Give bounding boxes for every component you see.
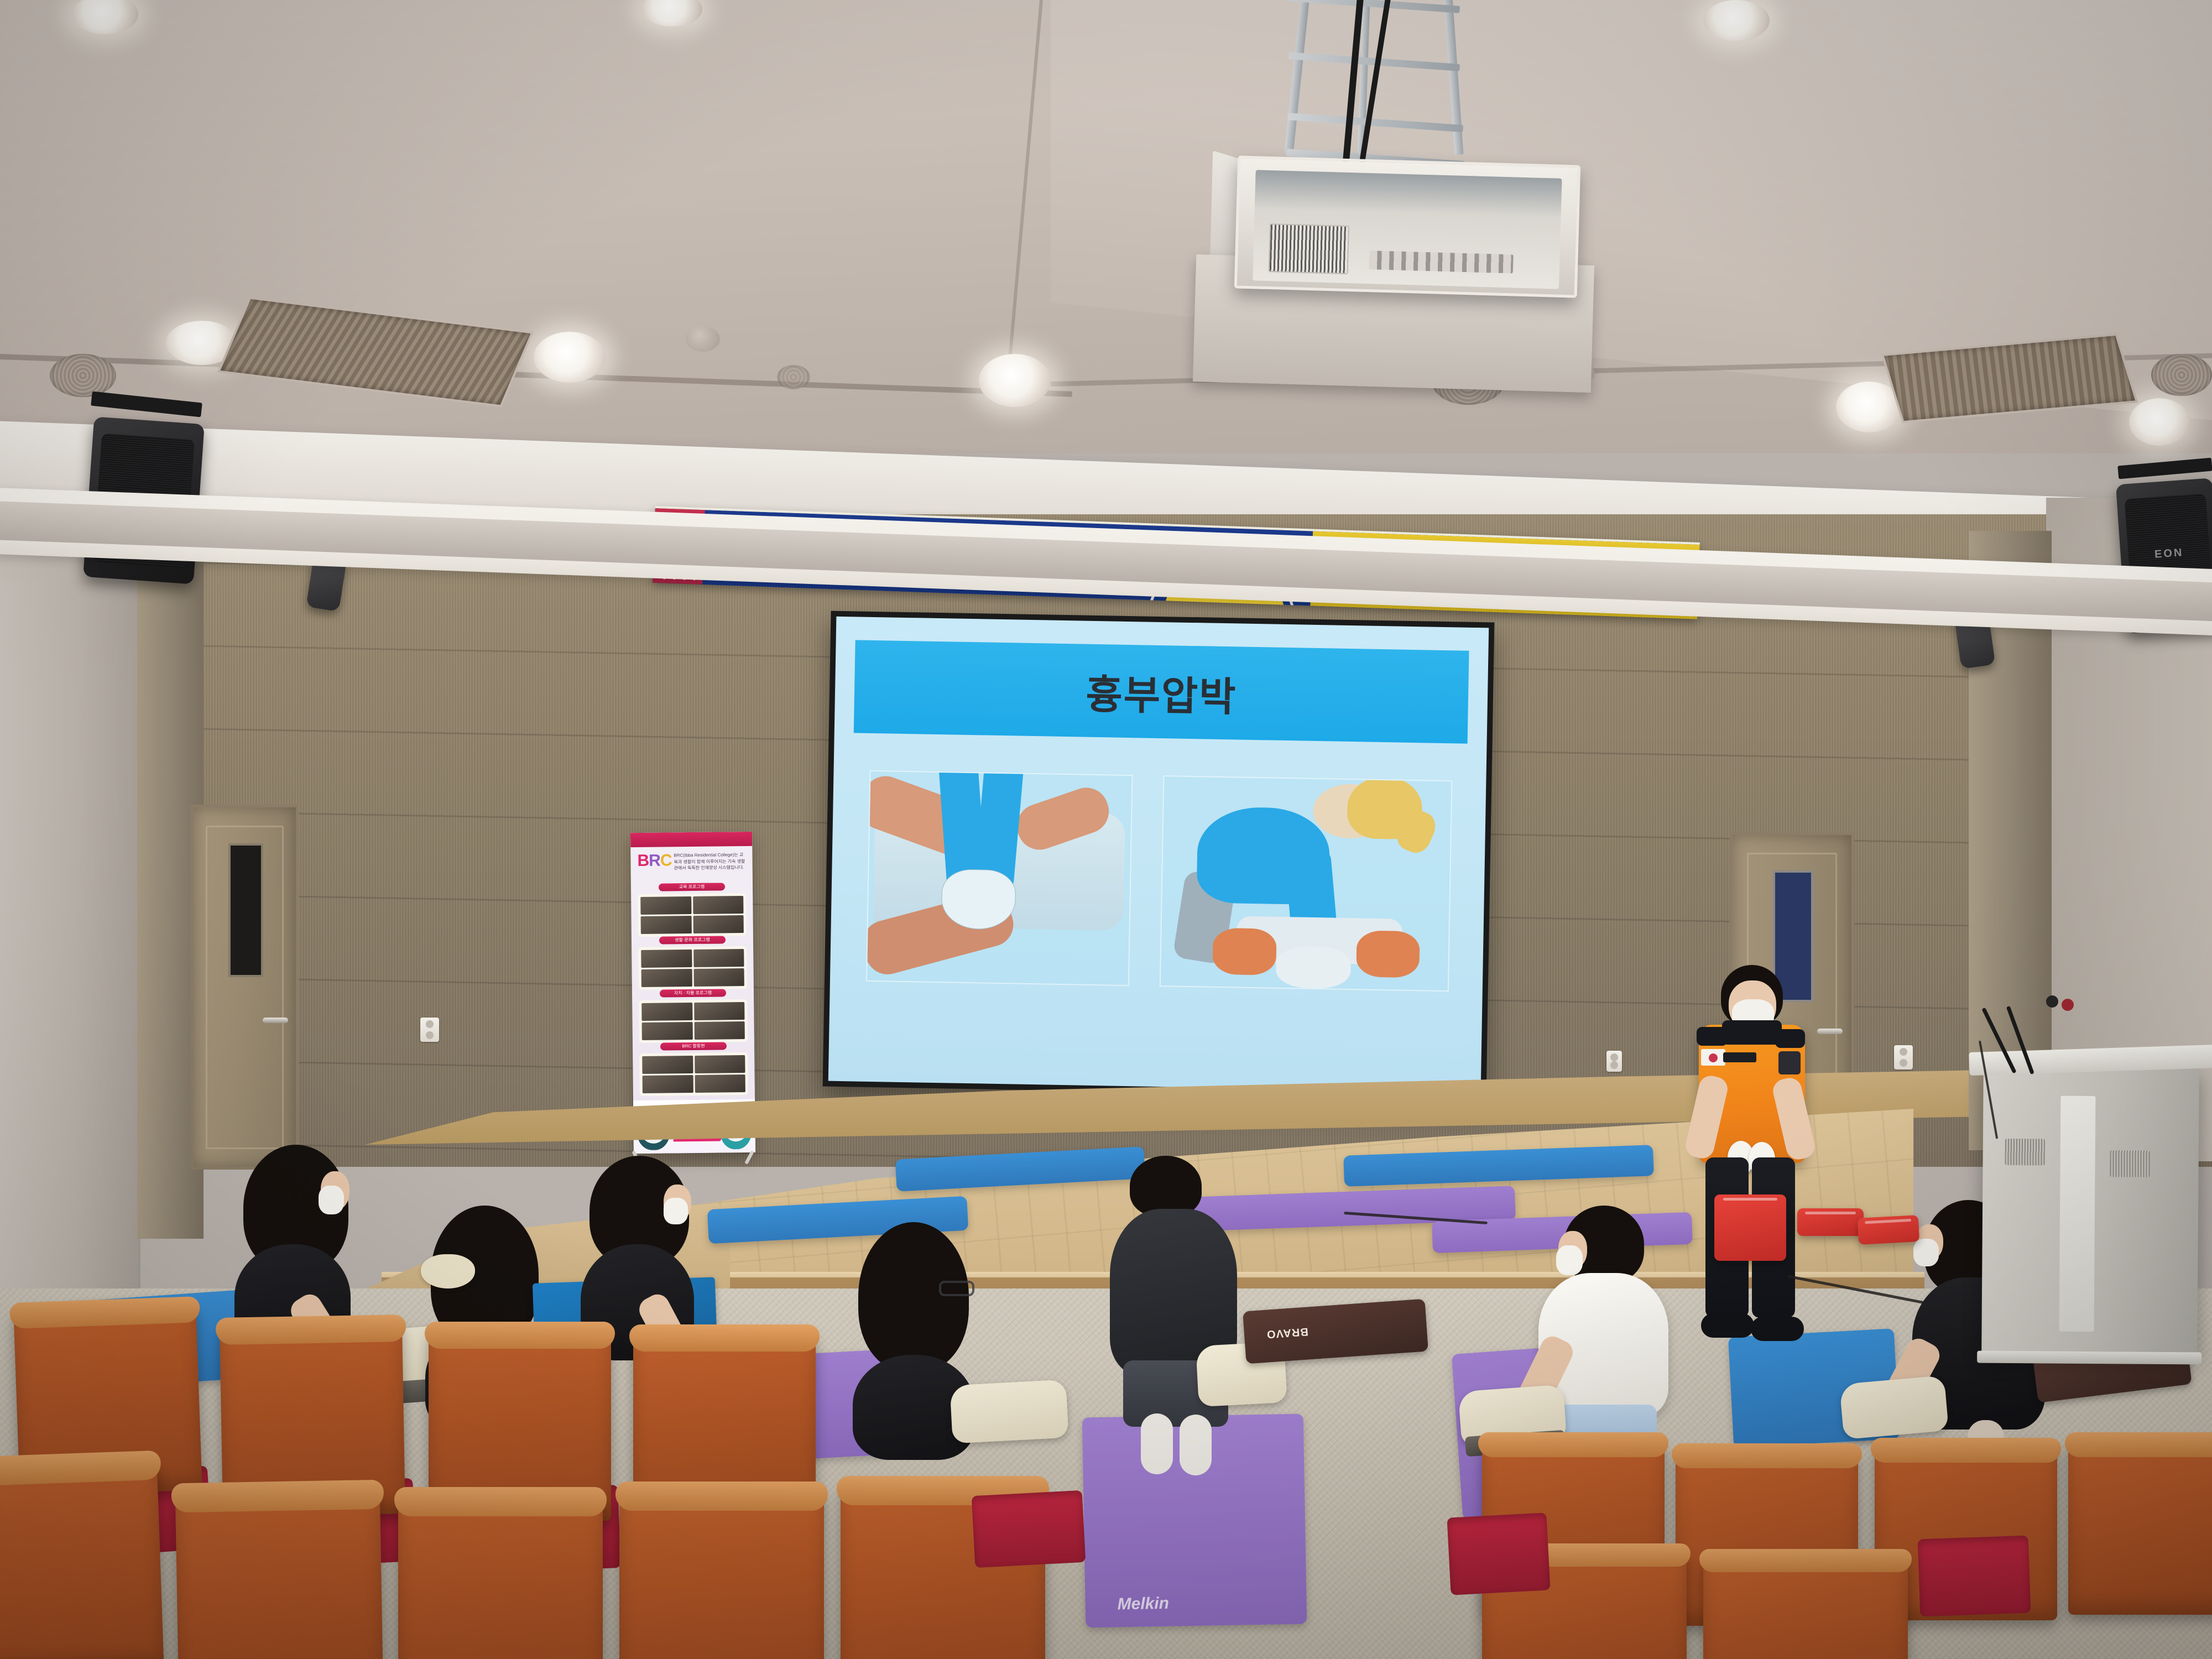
rollup-section: 생활·문화 프로그램	[638, 936, 747, 990]
uniform-shoulder-right	[1775, 1029, 1805, 1048]
seat-cushion	[1447, 1512, 1550, 1595]
seat-top-trim	[1871, 1438, 2060, 1463]
auditorium-seat[interactable]	[619, 1488, 824, 1659]
uniform-collar	[1722, 1020, 1782, 1045]
participant-5	[1098, 1156, 1258, 1465]
rollup-section-label: 생활·문화 프로그램	[659, 936, 726, 944]
left-pillar	[0, 581, 140, 1383]
door-handle[interactable]	[263, 1018, 288, 1023]
carry-bag-brand-label: BRAVO	[1266, 1324, 1308, 1340]
instructor-shoe	[1701, 1313, 1754, 1338]
downlight-icon	[979, 354, 1051, 407]
rollup-section: BRC 활동현	[639, 1042, 748, 1096]
seat-top-trim	[394, 1487, 607, 1516]
seat-backrest	[0, 1457, 164, 1659]
air-diffuser-icon	[777, 365, 810, 389]
rollup-photo	[641, 916, 692, 934]
rollup-photo-grid	[639, 1052, 748, 1096]
projection-screen: 흉부압박	[823, 611, 1495, 1098]
downlight-icon	[534, 332, 606, 383]
rollup-section-label: BRC 활동현	[660, 1042, 727, 1050]
air-diffuser-icon	[2151, 354, 2212, 396]
rollup-section-label: 교육 프로그램	[659, 883, 725, 891]
rollup-photo	[642, 1022, 693, 1040]
seat-backrest	[619, 1488, 824, 1659]
seat-top-trim	[2065, 1432, 2212, 1457]
rollup-logo: BRC	[637, 851, 671, 870]
lectern-base	[1977, 1351, 2201, 1365]
seat-top-trim	[615, 1481, 828, 1511]
wall-outlet[interactable]	[1606, 1051, 1622, 1072]
door-vision-panel	[228, 843, 264, 977]
rollup-photo-grid	[639, 999, 748, 1043]
participant-hair	[858, 1222, 969, 1371]
rollup-section-label: 자치 · 자율 프로그램	[660, 989, 726, 997]
projector-port-panel	[1369, 251, 1514, 273]
rollup-logo-r: R	[649, 852, 660, 870]
rollup-photo	[694, 1002, 745, 1020]
face-mask-icon	[1913, 1239, 1939, 1266]
rollup-photo	[643, 1075, 693, 1093]
seat-backrest	[2068, 1438, 2212, 1615]
emergency-bag	[1797, 1208, 1864, 1236]
rollup-logo-b: B	[637, 852, 649, 870]
door-left[interactable]	[191, 805, 299, 1170]
instructor-shoe	[1751, 1317, 1804, 1341]
rollup-photo	[694, 1021, 745, 1040]
lectern	[1981, 1067, 2199, 1356]
rollup-photo-grid	[638, 946, 747, 990]
cpr-manikin	[1839, 1375, 1949, 1439]
korea-flag-patch-circle	[1709, 1053, 1718, 1062]
hair-bow	[421, 1254, 475, 1288]
rollup-photo	[693, 968, 744, 987]
rollup-photo	[695, 1074, 745, 1093]
projector-vent-grille	[1269, 223, 1349, 274]
rollup-header-bar	[630, 832, 752, 847]
auditorium-seat[interactable]	[398, 1493, 603, 1659]
auditorium-seat[interactable]	[2068, 1438, 2212, 1615]
seat-top-trim	[216, 1314, 406, 1345]
rollup-photo	[695, 1055, 745, 1073]
projector-body	[1253, 170, 1562, 289]
rollup-photo	[641, 950, 692, 968]
rollup-photo	[693, 915, 744, 933]
instructor	[1687, 965, 1814, 1347]
downlight-icon	[1703, 0, 1770, 41]
air-diffuser-icon	[50, 354, 116, 397]
face-mask-icon	[664, 1198, 688, 1224]
slide-illustration-kneeling-posture	[1160, 775, 1453, 992]
rollup-logo-c: C	[660, 851, 672, 869]
seat-top-trim	[629, 1324, 819, 1352]
rollup-photo	[641, 969, 692, 987]
rollup-photo	[693, 949, 744, 967]
face-mask-icon	[1556, 1245, 1583, 1275]
microphone-head[interactable]	[2062, 999, 2074, 1011]
uniform-shoulder-left	[1697, 1027, 1728, 1046]
wall-outlet[interactable]	[420, 1018, 439, 1042]
lectern-center-stripe	[2059, 1096, 2095, 1332]
eyeglasses-icon	[939, 1281, 974, 1296]
slide-title-text: 흉부압박	[1086, 661, 1238, 722]
rollup-photo-grid	[638, 893, 747, 937]
rollup-headline: BRC(Ibba Residential College)는 교육과 생활이 함…	[674, 852, 747, 872]
rollup-section: 자치 · 자율 프로그램	[639, 989, 748, 1043]
fire-service-shoulder-patch	[1778, 1051, 1801, 1074]
shoe-icon	[1141, 1413, 1173, 1474]
auditorium-seat[interactable]	[175, 1486, 384, 1659]
emergency-bag	[1858, 1215, 1919, 1245]
rollup-photo	[641, 1003, 692, 1021]
shoe-icon	[1180, 1415, 1212, 1475]
seat-top-trim	[1672, 1443, 1861, 1468]
wall-outlet[interactable]	[1894, 1045, 1913, 1070]
seat-cushion	[1918, 1536, 2031, 1617]
smoke-detector-icon	[686, 326, 720, 352]
auditorium-scene: EON EON 응급처치 교육으로 안전하고 건강한 생활습관 만들기 장소 :…	[0, 0, 2212, 1659]
lectern-speaker-grille	[2005, 1139, 2045, 1166]
lectern-speaker-grille	[2110, 1150, 2150, 1177]
rollup-section: 교육 프로그램	[638, 883, 747, 937]
rollup-photo	[642, 1056, 693, 1074]
seat-top-trim	[1478, 1432, 1668, 1457]
projector-housing	[1234, 155, 1580, 298]
name-tape	[1723, 1052, 1756, 1062]
door-handle[interactable]	[1817, 1029, 1843, 1034]
face-mask-icon	[319, 1186, 344, 1214]
emergency-bag	[1714, 1194, 1786, 1261]
slide-title-bar: 흉부압박	[854, 640, 1469, 743]
downlight-icon	[2129, 398, 2190, 446]
seat-backrest	[398, 1493, 603, 1659]
rollup-photo	[640, 896, 691, 915]
slide-surface: 흉부압박	[828, 617, 1489, 1092]
seat-top-trim	[1699, 1549, 1912, 1572]
seat-cushion	[972, 1490, 1086, 1568]
seat-top-trim	[171, 1479, 384, 1512]
seat-top-trim	[425, 1322, 614, 1349]
slide-illustration-hand-placement	[866, 770, 1133, 986]
cpr-manikin	[950, 1380, 1068, 1444]
microphone-head[interactable]	[2046, 995, 2058, 1008]
rollup-photo	[693, 896, 744, 914]
participant-hair	[1130, 1156, 1202, 1217]
speaker-bracket	[2117, 458, 2212, 479]
auditorium-seat[interactable]	[1703, 1554, 1908, 1659]
mat-brand-label: Melkin	[1117, 1594, 1169, 1614]
auditorium-seat[interactable]	[0, 1457, 164, 1659]
